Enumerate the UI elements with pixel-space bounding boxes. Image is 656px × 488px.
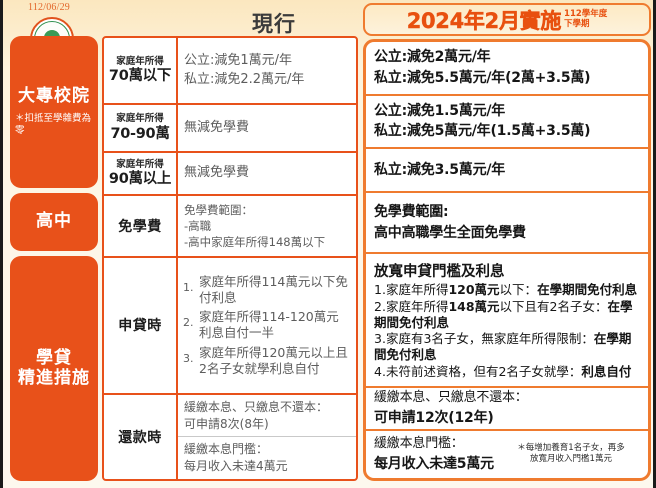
row-value-loan-repay-current: 緩繳本息、只繳息不還本： 可申請8次(8年) 緩繳本息門檻： 每月收入未達4萬元 [178,395,356,479]
value-line: 無減免學費 [184,164,350,183]
value-line: 高中高職學生全面免學費 [374,223,640,243]
footnote-line2: 放寬月收入門檻1萬元 [502,454,640,465]
value-line: 免學費範圍: [374,202,640,222]
list-item: 3. 家庭年所得120萬元以上且2名子女就學利息自付 [183,345,351,378]
row-label-big: 70-90萬 [110,125,169,143]
loan-apply-new-title: 放寬申貸門檻及利息 [374,260,640,281]
list-item: 1.家庭年所得120萬元以下：在學期間免付利息 [374,282,640,298]
numbered-list-current: 1. 家庭年所得114萬元以下免付利息 2. 家庭年所得114-120萬元利息自… [183,274,351,378]
row-label-big: 申貸時 [118,315,162,335]
category-note-university: ＊扣抵至學雜費為零 [10,113,98,137]
value-line: 私立:減免3.5萬元/年 [374,160,640,180]
row-label-loan-repay: 還款時 [104,395,178,479]
value-line: -高中家庭年所得148萬以下 [184,234,350,250]
category-title-loan-line2: 精進措施 [18,369,90,389]
footnote-line1: ＊每增加養育1名子女，再多 [502,443,640,454]
list-item-text-plain: 家庭年所得 [386,299,449,314]
list-item-text-plain: 家庭有3名子女，無家庭年所得限制： [386,331,594,346]
row-label-uni-70-90: 家庭年所得 70-90萬 [104,105,178,151]
table-row-uni-under-70-current: 家庭年所得 70萬以下 公立:減免1萬元/年 私立:減免2.2萬元/年 [104,38,356,105]
table-row-uni-70-90-new: 公立:減免1.5萬元/年 私立:減免5萬元/年(1.5萬+3.5萬) [366,96,648,150]
row-value-uni-under-70-current: 公立:減免1萬元/年 私立:減免2.2萬元/年 [178,38,356,103]
column-header-new: 2024年2月實施 112學年度 下學期 [363,3,651,36]
list-item-text-result: 在學期間免付利息 [537,282,637,297]
list-item-number: 4. [374,364,386,379]
list-item-number: 1. [374,282,386,297]
row-value-loan-apply-current: 1. 家庭年所得114萬元以下免付利息 2. 家庭年所得114-120萬元利息自… [178,258,356,393]
list-item: 2.家庭年所得148萬元以下且有2名子女：在學期間免付利息 [374,299,640,332]
new-policy-panel: 公立:減免2萬元/年 私立:減免5.5萬元/年(2萬+3.5萬) 公立:減免1.… [363,39,651,481]
list-item-text-emph: 120萬元 [448,282,499,297]
repay-title: 緩繳本息、只繳息不還本： [374,389,640,408]
list-item-text: 家庭年所得120萬元以上且2名子女就學利息自付 [199,345,351,378]
repay-value: 可申請12次(12年) [374,408,640,428]
row-value-uni-70-90-current: 無減免學費 [178,105,356,151]
date-stamp: 112/06/29 [28,2,70,13]
new-policy-subtitle: 112學年度 下學期 [564,10,607,29]
repay-threshold-texts: 緩繳本息門檻： 每月收入未達5萬元 [374,435,494,474]
new-policy-title: 2024年2月實施 [407,5,561,35]
repay-value: 可申請8次(8年) [184,416,350,433]
row-value-uni-over-90-current: 無減免學費 [178,153,356,194]
list-item-number: 2. [183,309,199,330]
repay-title: 緩繳本息門檻： [374,435,494,454]
repay-block-defer: 緩繳本息、只繳息不還本： 可申請8次(8年) [178,395,356,437]
list-item-text-result: 利息自付 [581,364,631,379]
value-line: 公立:減免1.5萬元/年 [374,101,640,121]
row-label-uni-over-90: 家庭年所得 90萬以上 [104,153,178,194]
table-row-hs-new: 免學費範圍: 高中高職學生全面免學費 [366,193,648,254]
table-row-loan-repay-threshold-new: 緩繳本息門檻： 每月收入未達5萬元 ＊每增加養育1名子女，再多 放寬月收入門檻1… [366,431,648,478]
table-row-uni-over-90-current: 家庭年所得 90萬以上 無減免學費 [104,153,356,196]
list-item: 3.家庭有3名子女，無家庭年所得限制：在學期間免付利息 [374,331,640,364]
row-label-big: 70萬以下 [109,67,171,85]
table-row-uni-70-90-current: 家庭年所得 70-90萬 無減免學費 [104,105,356,153]
row-label-hs: 免學費 [104,196,178,256]
repay-value: 每月收入未達5萬元 [374,454,494,474]
list-item: 4.未符前述資格，但有2名子女就學：利息自付 [374,364,640,380]
list-item-text-plain: 未符前述資格，但有2名子女就學： [386,364,581,379]
row-label-small: 家庭年所得 [116,56,164,67]
column-header-current: 現行 [189,8,359,38]
list-item: 1. 家庭年所得114萬元以下免付利息 [183,274,351,307]
value-line: -高職 [184,218,350,234]
value-line: 私立:減免5萬元/年(1.5萬+3.5萬) [374,121,640,141]
value-line: 免學費範圍： [184,202,350,218]
value-line: 公立:減免1萬元/年 [184,52,350,71]
list-item-text-plain2: 以下： [500,282,538,297]
row-label-loan-apply: 申貸時 [104,258,178,393]
value-line: 公立:減免2萬元/年 [374,47,640,67]
list-item-text: 家庭年所得114-120萬元利息自付一半 [199,309,351,342]
current-policy-panel: 家庭年所得 70萬以下 公立:減免1萬元/年 私立:減免2.2萬元/年 家庭年所… [102,36,358,481]
table-row-hs-current: 免學費 免學費範圍： -高職 -高中家庭年所得148萬以下 [104,196,356,258]
list-item-text: 家庭年所得114萬元以下免付利息 [199,274,351,307]
row-label-big: 90萬以上 [109,170,171,188]
numbered-list-new: 1.家庭年所得120萬元以下：在學期間免付利息 2.家庭年所得148萬元以下且有… [374,282,640,380]
table-row-uni-under-70-new: 公立:減免2萬元/年 私立:減免5.5萬元/年(2萬+3.5萬) [366,42,648,96]
category-chip-high-school[interactable]: 高中 [10,193,98,251]
table-row-uni-over-90-new: 私立:減免3.5萬元/年 [366,149,648,193]
repay-threshold-group: 緩繳本息門檻： 每月收入未達5萬元 ＊每增加養育1名子女，再多 放寬月收入門檻1… [374,435,640,474]
table-row-loan-repay-defer-new: 緩繳本息、只繳息不還本： 可申請12次(12年) [366,388,648,431]
list-item-text-emph: 148萬元 [448,299,499,314]
row-label-small: 家庭年所得 [116,113,164,124]
repay-block-threshold: 緩繳本息門檻： 每月收入未達4萬元 [178,436,356,479]
category-title-student-loan: 學貸 精進措施 [18,349,90,388]
list-item: 2. 家庭年所得114-120萬元利息自付一半 [183,309,351,342]
value-line: 私立:減免5.5萬元/年(2萬+3.5萬) [374,68,640,88]
new-policy-subtitle-line2: 下學期 [564,20,607,30]
list-item-number: 2. [374,299,386,314]
category-chip-student-loan[interactable]: 學貸 精進措施 [10,256,98,481]
category-title-high-school: 高中 [36,212,72,232]
row-label-small: 家庭年所得 [116,159,164,170]
value-line: 私立:減免2.2萬元/年 [184,71,350,90]
row-label-big: 還款時 [118,427,162,447]
table-row-loan-repay-current: 還款時 緩繳本息、只繳息不還本： 可申請8次(8年) 緩繳本息門檻： 每月收入未… [104,395,356,479]
category-title-loan-line1: 學貸 [18,349,90,369]
category-title-university: 大專校院 [18,87,90,107]
row-label-uni-under-70: 家庭年所得 70萬以下 [104,38,178,103]
list-item-number: 3. [183,345,199,366]
repay-title: 緩繳本息門檻： [184,441,350,458]
footnote-note: ＊每增加養育1名子女，再多 放寬月收入門檻1萬元 [502,443,640,465]
row-label-big: 免學費 [118,216,162,236]
table-row-loan-apply-current: 申貸時 1. 家庭年所得114萬元以下免付利息 2. 家庭年所得114-120萬… [104,258,356,395]
list-item-number: 1. [183,274,199,295]
row-value-hs-current: 免學費範圍： -高職 -高中家庭年所得148萬以下 [178,196,356,256]
infographic-page: 112/06/29 教育部 現行 2024年2月實施 112學年度 下學期 大專… [0,0,656,488]
repay-title: 緩繳本息、只繳息不還本： [184,399,350,416]
list-item-number: 3. [374,331,386,346]
list-item-text-plain: 家庭年所得 [386,282,449,297]
list-item-text-plain2: 以下且有2名子女： [500,299,608,314]
repay-value: 每月收入未達4萬元 [184,458,350,475]
value-line: 無減免學費 [184,119,350,138]
table-row-loan-apply-new: 放寬申貸門檻及利息 1.家庭年所得120萬元以下：在學期間免付利息 2.家庭年所… [366,254,648,388]
category-chip-university[interactable]: 大專校院 ＊扣抵至學雜費為零 [10,36,98,188]
